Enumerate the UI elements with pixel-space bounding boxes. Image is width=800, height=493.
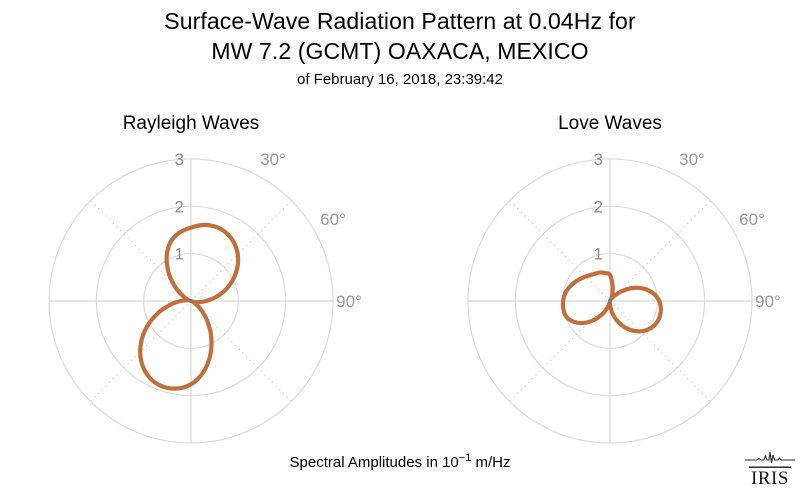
iris-wordmark: IRIS bbox=[749, 467, 791, 490]
rayleigh-polar-plot: 12330°60°90° bbox=[49, 150, 362, 443]
note-exponent: −1 bbox=[459, 452, 472, 464]
note-suffix: m/Hz bbox=[471, 454, 510, 471]
angle-label-90: 90° bbox=[336, 292, 362, 311]
spectral-amplitude-note: Spectral Amplitudes in 10−1 m/Hz bbox=[0, 452, 800, 471]
grid-spoke-45 bbox=[191, 201, 291, 301]
iris-logo: IRIS bbox=[744, 449, 796, 489]
plot-center-dot bbox=[608, 299, 612, 303]
angle-label-60: 60° bbox=[739, 210, 765, 229]
plot-center-dot bbox=[189, 299, 193, 303]
r-tick-label-3: 3 bbox=[594, 150, 603, 169]
angle-label-30: 30° bbox=[679, 150, 705, 169]
love-polar-plot: 12330°60°90° bbox=[468, 150, 781, 443]
r-tick-label-3: 3 bbox=[175, 150, 184, 169]
angle-label-30: 30° bbox=[260, 150, 286, 169]
r-tick-label-1: 1 bbox=[594, 245, 603, 264]
seismogram-icon bbox=[745, 452, 795, 463]
r-tick-label-1: 1 bbox=[175, 245, 184, 264]
rayleigh-radiation-curve bbox=[140, 225, 238, 389]
polar-plots-canvas: 12330°60°90°12330°60°90° bbox=[0, 0, 800, 493]
r-tick-label-2: 2 bbox=[594, 197, 603, 216]
iris-wordmark-text: IRIS bbox=[751, 468, 789, 489]
radiation-pattern-figure: Surface-Wave Radiation Pattern at 0.04Hz… bbox=[0, 0, 800, 493]
r-tick-label-2: 2 bbox=[175, 197, 184, 216]
angle-label-90: 90° bbox=[755, 292, 781, 311]
grid-spoke-225 bbox=[510, 301, 610, 401]
grid-spoke-45 bbox=[610, 201, 710, 301]
note-prefix: Spectral Amplitudes in 10 bbox=[290, 454, 459, 471]
angle-label-60: 60° bbox=[320, 210, 346, 229]
